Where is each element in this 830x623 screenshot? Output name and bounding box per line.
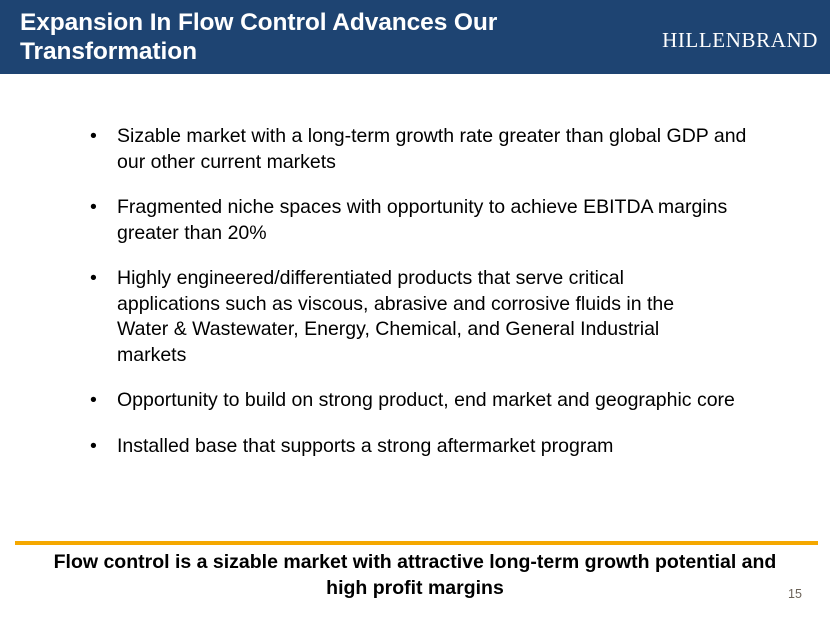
- bullet-point-icon: •: [90, 266, 104, 292]
- list-item: • Highly engineered/differentiated produ…: [88, 266, 778, 368]
- list-item-text: Installed base that supports a strong af…: [117, 434, 777, 460]
- bullet-point-icon: •: [90, 124, 104, 150]
- list-item: • Sizable market with a long-term growth…: [88, 124, 778, 175]
- list-item-text: Highly engineered/differentiated product…: [117, 266, 717, 368]
- list-item: • Installed base that supports a strong …: [88, 434, 778, 460]
- bullet-point-icon: •: [90, 195, 104, 221]
- page-title: Expansion In Flow Control Advances Our T…: [20, 8, 590, 66]
- list-item-text: Sizable market with a long-term growth r…: [117, 124, 757, 175]
- footer-divider: [15, 541, 818, 545]
- list-item-text: Opportunity to build on strong product, …: [117, 388, 742, 414]
- bullet-point-icon: •: [90, 434, 104, 460]
- bullet-list: • Sizable market with a long-term growth…: [88, 124, 778, 459]
- slide-body: • Sizable market with a long-term growth…: [0, 74, 830, 529]
- list-item-text: Fragmented niche spaces with opportunity…: [117, 195, 777, 246]
- presentation-slide: Expansion In Flow Control Advances Our T…: [0, 0, 830, 623]
- slide-header-band: Expansion In Flow Control Advances Our T…: [0, 0, 830, 74]
- slide-number: 15: [782, 587, 808, 601]
- list-item: • Opportunity to build on strong product…: [88, 388, 778, 414]
- hillenbrand-logo: Hillenbrand: [662, 22, 818, 54]
- footer-key-message: Flow control is a sizable market with at…: [40, 549, 790, 601]
- bullet-point-icon: •: [90, 388, 104, 414]
- list-item: • Fragmented niche spaces with opportuni…: [88, 195, 778, 246]
